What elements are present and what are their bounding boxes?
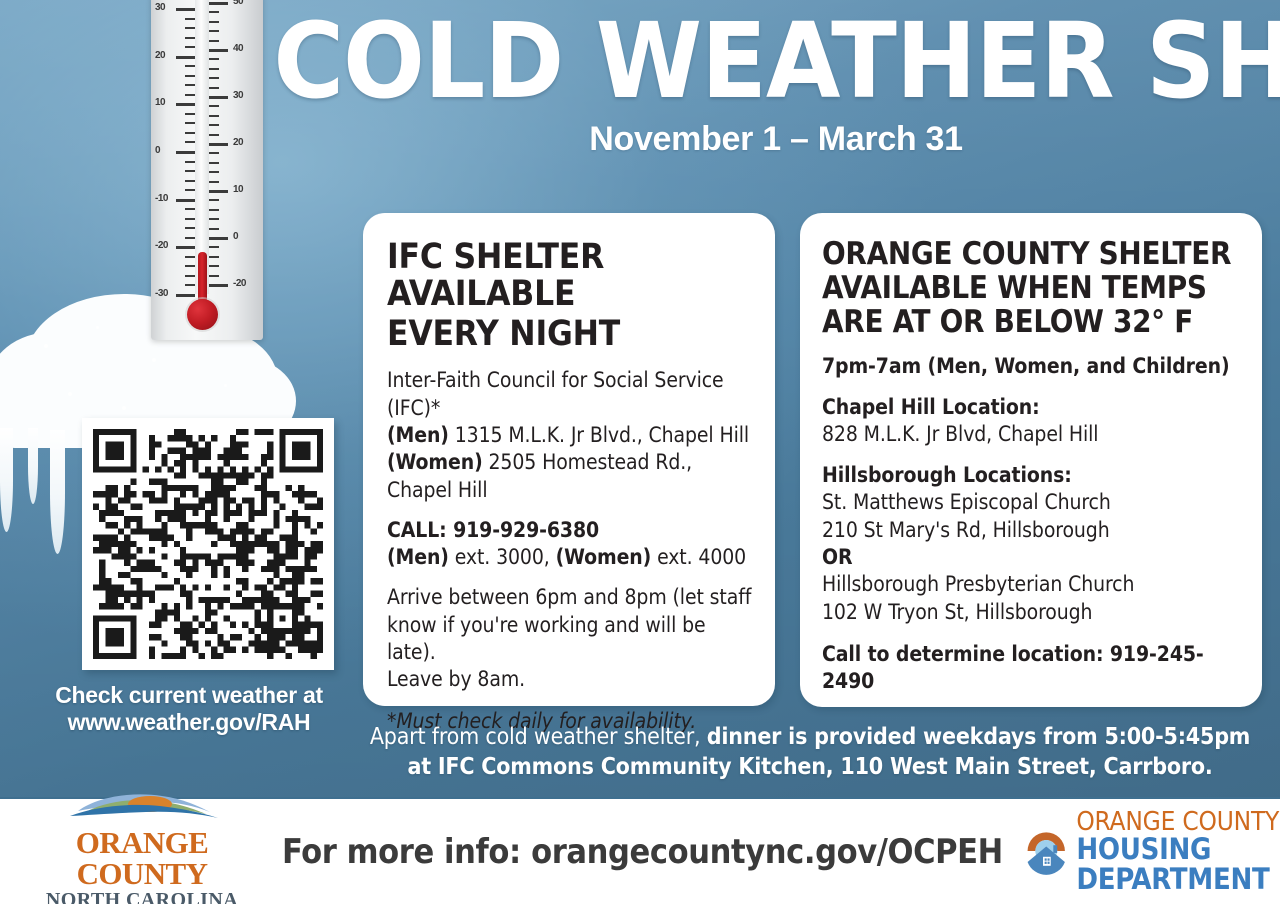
ifc-arrive-line1: Arrive between 6pm and 8pm (let staff <box>387 584 753 611</box>
dinner-line1-normal: Apart from cold weather shelter, <box>370 724 707 750</box>
weather-link-caption: Check current weather at www.weather.gov… <box>24 682 354 736</box>
orange-county-shelter-card: ORANGE COUNTY SHELTER AVAILABLE WHEN TEM… <box>800 213 1262 707</box>
poster-header: COLD WEATHER SHELTERS November 1 – March… <box>288 14 1264 159</box>
oc-chapel-hill-block: Chapel Hill Location: 828 M.L.K. Jr Blvd… <box>822 394 1242 449</box>
oc-hillsborough-label: Hillsborough Locations: <box>822 462 1242 489</box>
dinner-banner: Apart from cold weather shelter, dinner … <box>360 722 1260 783</box>
thermometer-fahrenheit-label: 30 <box>233 90 243 101</box>
oc-heading-line3-bold: ARE AT OR BELOW 32° F <box>822 304 1193 340</box>
weather-caption-line2: www.weather.gov/RAH <box>24 709 354 736</box>
orange-county-logo-state: NORTH CAROLINA <box>26 889 258 904</box>
thermometer-fahrenheit-label: 0 <box>233 231 238 242</box>
thermometer-celsius-label: 20 <box>155 50 165 61</box>
housing-department-logo: ORANGE COUNTY HOUSING DEPARTMENT <box>1025 809 1280 895</box>
page-subtitle: November 1 – March 31 <box>288 120 1264 159</box>
oc-heading-line1: ORANGE COUNTY SHELTER <box>822 236 1231 272</box>
thermometer-celsius-label: -30 <box>155 288 168 299</box>
orange-county-landscape-icon <box>26 792 258 822</box>
thermometer-fahrenheit-label: 40 <box>233 43 243 54</box>
oc-call-line[interactable]: Call to determine location: 919-245-2490 <box>822 641 1242 696</box>
ifc-address-block: Inter-Faith Council for Social Service (… <box>387 367 753 503</box>
thermometer-graphic: 3020100-10-20-3050403020100-20 <box>143 0 275 346</box>
ifc-ext-women-value: ext. 4000 <box>651 545 746 569</box>
ifc-call-block: CALL: 919-929-6380 (Men) ext. 3000, (Wom… <box>387 517 753 572</box>
ifc-women-label: (Women) <box>387 450 483 474</box>
ifc-shelter-card: IFC SHELTER AVAILABLE EVERY NIGHT Inter-… <box>363 213 775 706</box>
thermometer-tube <box>195 0 209 294</box>
weather-caption-line1: Check current weather at <box>24 682 354 709</box>
orange-county-logo-name: ORANGE COUNTY <box>26 827 258 889</box>
ifc-men-address: 1315 M.L.K. Jr Blvd., Chapel Hill <box>449 423 749 447</box>
oc-chapel-hill-label: Chapel Hill Location: <box>822 394 1242 421</box>
ifc-heading-line1: IFC SHELTER <box>387 239 753 276</box>
thermometer-celsius-label: 0 <box>155 145 160 156</box>
ifc-heading-line2: AVAILABLE <box>387 276 753 313</box>
oc-hills-loc1-name: St. Matthews Episcopal Church <box>822 489 1242 516</box>
qr-code-block[interactable] <box>82 418 334 670</box>
oc-hills-loc1-address: 210 St Mary's Rd, Hillsborough <box>822 517 1242 544</box>
ifc-men-address-row: (Men) 1315 M.L.K. Jr Blvd., Chapel Hill <box>387 422 753 449</box>
housing-department-logo-text: ORANGE COUNTY HOUSING DEPARTMENT <box>1076 809 1280 895</box>
page-title: COLD WEATHER SHELTERS <box>273 14 1278 110</box>
dinner-line1-bold: dinner is provided weekdays from 5:00-5:… <box>707 724 1250 750</box>
dinner-line2-bold: at IFC Commons Community Kitchen, 110 We… <box>407 754 1212 780</box>
ifc-ext-women-label: (Women) <box>556 545 652 569</box>
ifc-extensions-row: (Men) ext. 3000, (Women) ext. 4000 <box>387 544 753 571</box>
ifc-phone-line[interactable]: CALL: 919-929-6380 <box>387 517 753 544</box>
oc-heading-line2-bold: WHEN TEMPS <box>997 270 1207 306</box>
thermometer-celsius-label: -20 <box>155 240 168 251</box>
oc-card-heading: ORANGE COUNTY SHELTER AVAILABLE WHEN TEM… <box>822 237 1242 339</box>
thermometer-fahrenheit-label: -20 <box>233 278 246 289</box>
oc-hills-or: OR <box>822 544 1242 571</box>
ifc-card-heading: IFC SHELTER AVAILABLE EVERY NIGHT <box>387 239 753 353</box>
footer-bar: ORANGE COUNTY NORTH CAROLINA For more in… <box>0 797 1280 904</box>
ifc-heading-line3: EVERY NIGHT <box>387 315 753 354</box>
housing-logo-line2: HOUSING DEPARTMENT <box>1076 835 1280 894</box>
poster-canvas: 3020100-10-20-3050403020100-20 COLD WEAT… <box>0 0 1280 904</box>
ifc-arrive-line3: Leave by 8am. <box>387 666 753 693</box>
ifc-arrive-line2: know if you're working and will be late)… <box>387 612 753 667</box>
thermometer-fahrenheit-label: 50 <box>233 0 243 7</box>
house-icon <box>1025 818 1067 884</box>
thermometer-celsius-label: 30 <box>155 2 165 13</box>
ifc-org-line: Inter-Faith Council for Social Service (… <box>387 367 753 422</box>
ifc-arrival-block: Arrive between 6pm and 8pm (let staff kn… <box>387 584 753 693</box>
oc-hours-line: 7pm-7am (Men, Women, and Children) <box>822 353 1242 380</box>
qr-code-card[interactable] <box>82 418 334 670</box>
oc-heading-line2-normal: AVAILABLE <box>822 270 997 306</box>
ifc-ext-men-label: (Men) <box>387 545 449 569</box>
qr-code-icon[interactable] <box>93 429 323 659</box>
thermometer-bulb <box>187 299 218 330</box>
ifc-men-label: (Men) <box>387 423 449 447</box>
thermometer-celsius-label: -10 <box>155 193 168 204</box>
thermometer-celsius-label: 10 <box>155 97 165 108</box>
oc-hillsborough-block: Hillsborough Locations: St. Matthews Epi… <box>822 462 1242 626</box>
ifc-ext-men-value: ext. 3000, <box>449 545 556 569</box>
orange-county-logo: ORANGE COUNTY NORTH CAROLINA <box>26 792 258 904</box>
ifc-women-address-row: (Women) 2505 Homestead Rd., Chapel Hill <box>387 449 753 504</box>
thermometer-fahrenheit-label: 10 <box>233 184 243 195</box>
thermometer-fahrenheit-label: 20 <box>233 137 243 148</box>
oc-hills-loc2-address: 102 W Tryon St, Hillsborough <box>822 599 1242 626</box>
oc-hills-loc2-name: Hillsborough Presbyterian Church <box>822 571 1242 598</box>
more-info-line[interactable]: For more info: orangecountync.gov/OCPEH <box>282 832 1003 872</box>
oc-chapel-hill-address: 828 M.L.K. Jr Blvd, Chapel Hill <box>822 421 1242 448</box>
